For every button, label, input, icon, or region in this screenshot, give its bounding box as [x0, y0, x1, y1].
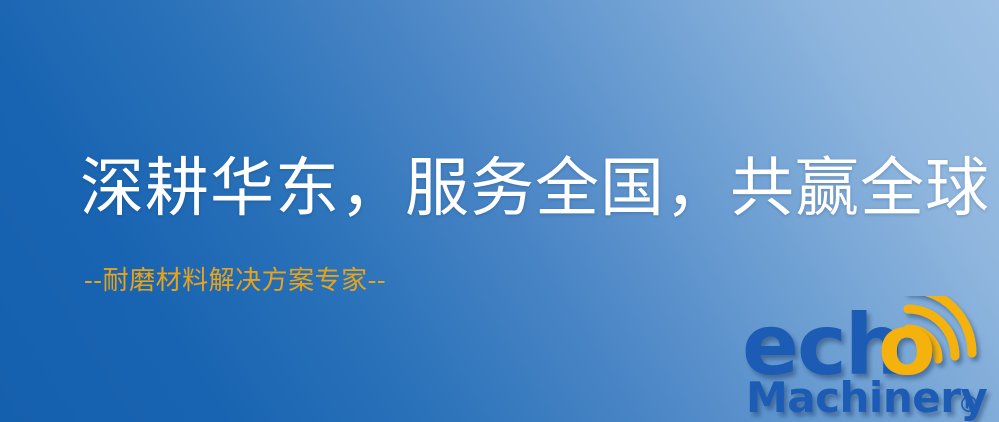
- banner-subtitle: --耐磨材料解决方案专家--: [84, 266, 386, 296]
- echo-machinery-logo: ech o Machinery ®: [742, 296, 999, 422]
- banner-headline: 深耕华东，服务全国，共赢全球: [80, 152, 990, 226]
- logo-brand-secondary: Machinery: [746, 373, 987, 422]
- logo-trademark-symbol: ®: [958, 393, 980, 418]
- promo-banner: 深耕华东，服务全国，共赢全球 --耐磨材料解决方案专家-- ech o: [0, 0, 999, 422]
